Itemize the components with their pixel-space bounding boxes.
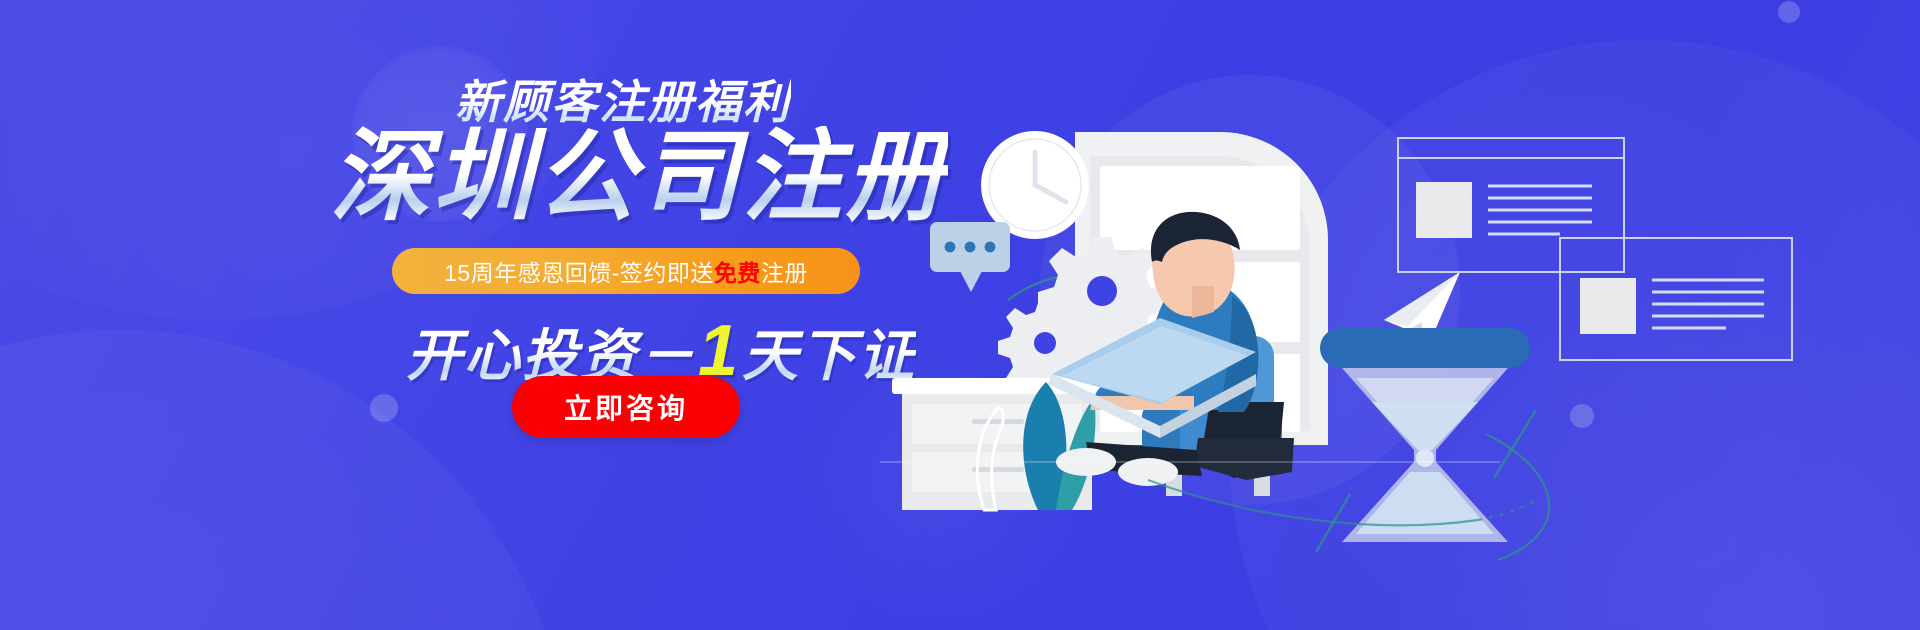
- copy-column: 新顾客注册福利 深圳公司注册 15周年感恩回馈-签约即送免费注册 开心投资－1天…: [0, 0, 980, 630]
- decor-dot-1: [1778, 1, 1800, 23]
- consult-now-button[interactable]: 立即咨询: [512, 376, 740, 438]
- promo-pill: 15周年感恩回馈-签约即送免费注册: [392, 248, 860, 294]
- document-card-icon: [1560, 238, 1792, 360]
- chat-bubble-icon: [930, 222, 1010, 292]
- promo-pill-suffix: 注册: [761, 254, 808, 288]
- promo-pill-prefix: 15周年感恩回馈-签约即送: [444, 254, 714, 288]
- promo-banner: 新顾客注册福利 深圳公司注册 15周年感恩回馈-签约即送免费注册 开心投资－1天…: [0, 0, 1920, 630]
- promo-pill-highlight: 免费: [714, 254, 761, 288]
- consult-now-button-label: 立即咨询: [564, 387, 688, 427]
- hero-illustration: [880, 90, 1880, 510]
- page-title: 深圳公司注册: [330, 126, 948, 228]
